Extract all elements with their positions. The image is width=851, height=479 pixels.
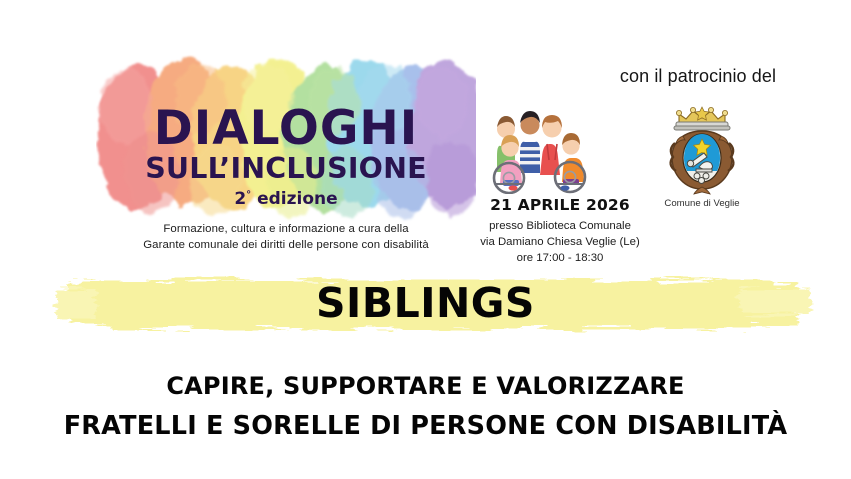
subtitle-line-2: FRATELLI E SORELLE DI PERSONE CON DISABI… — [0, 407, 851, 446]
logo-tagline: Formazione, cultura e informazione a cur… — [96, 221, 476, 253]
poster-subtitle: CAPIRE, SUPPORTARE E VALORIZZARE FRATELL… — [0, 368, 851, 446]
poster-canvas: DIALOGHI SULL’INCLUSIONE 2° edizione For… — [0, 0, 851, 479]
event-address: via Damiano Chiesa Veglie (Le) — [462, 234, 658, 250]
siblings-banner — [0, 272, 851, 334]
subtitle-line-1: CAPIRE, SUPPORTARE E VALORIZZARE — [0, 368, 851, 404]
event-date: 21 APRILE 2026 — [470, 196, 650, 214]
crest-caption: Comune di Veglie — [640, 198, 764, 209]
logo-block: DIALOGHI SULL’INCLUSIONE 2° edizione — [96, 52, 476, 232]
patronage-label: con il patrocinio del — [588, 66, 808, 87]
tagline-line-1: Formazione, cultura e informazione a cur… — [96, 221, 476, 237]
tagline-line-2: Garante comunale dei diritti delle perso… — [96, 237, 476, 253]
children-wheelchair-illustration-icon — [487, 96, 591, 194]
watercolor-splash — [96, 52, 476, 224]
event-venue: presso Biblioteca Comunale — [462, 218, 658, 234]
event-time: ore 17:00 - 18:30 — [462, 250, 658, 266]
event-details: presso Biblioteca Comunale via Damiano C… — [462, 218, 658, 267]
coat-of-arms-icon — [663, 103, 741, 196]
